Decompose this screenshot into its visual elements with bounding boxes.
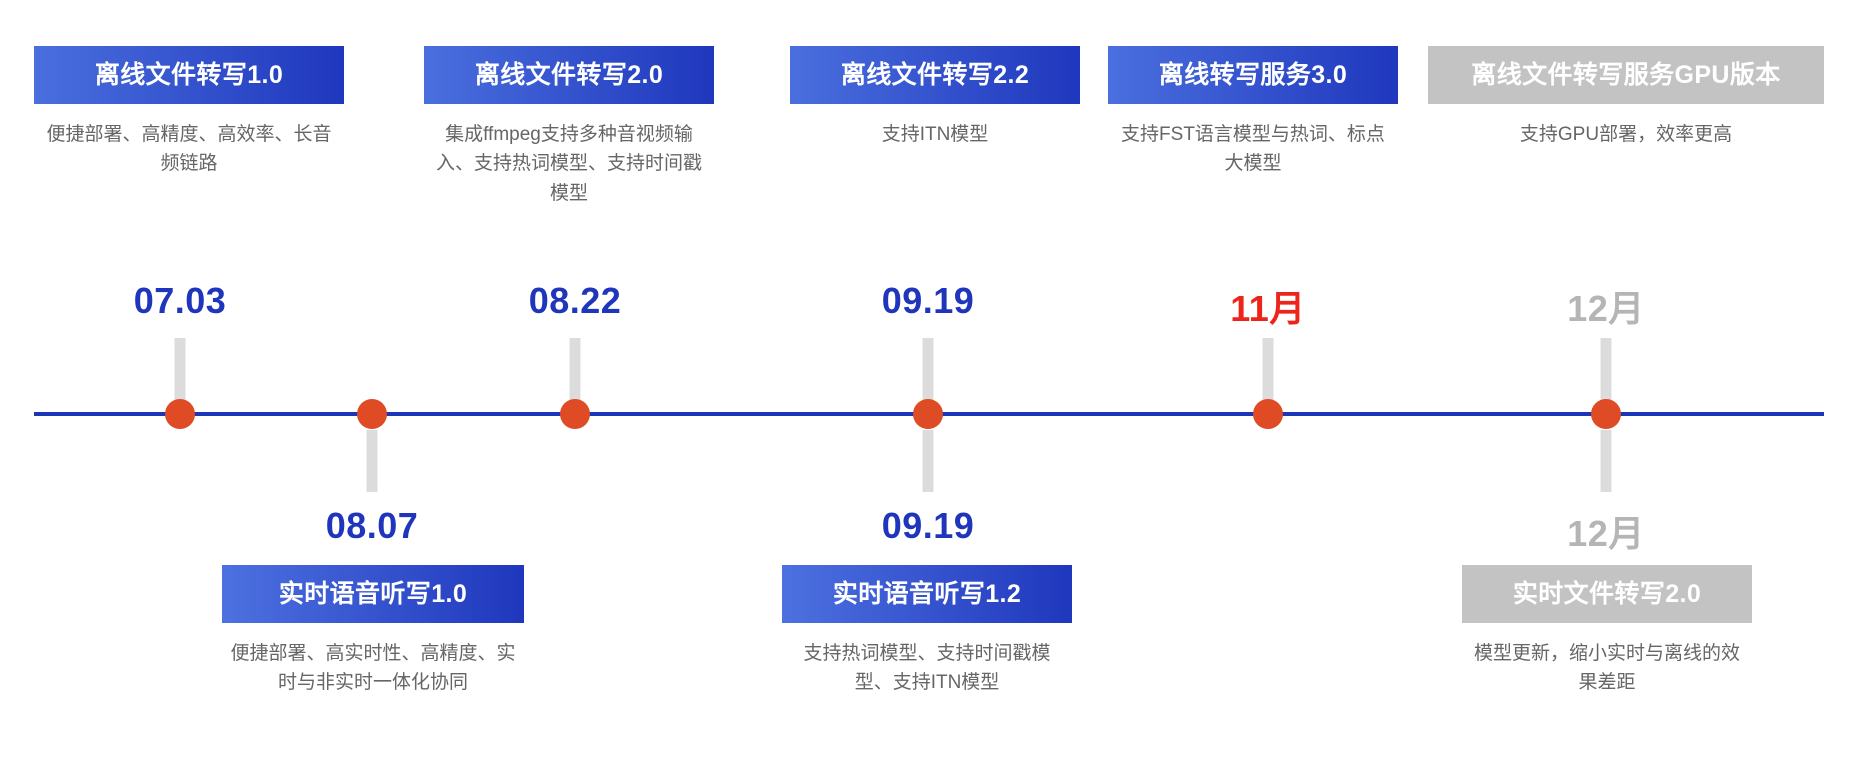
connector-stem-down-2 bbox=[367, 430, 378, 492]
timeline-node-0703[interactable] bbox=[165, 399, 195, 429]
timeline-card-offline-2-2[interactable]: 离线文件转写2.2 支持ITN模型 bbox=[790, 46, 1080, 149]
timeline-node-0919[interactable] bbox=[913, 399, 943, 429]
card-title: 实时语音听写1.2 bbox=[782, 565, 1072, 623]
date-label-december-top: 12月 bbox=[1567, 280, 1645, 332]
timeline-card-realtime-1-2[interactable]: 实时语音听写1.2 支持热词模型、支持时间戳模型、支持ITN模型 bbox=[782, 565, 1072, 698]
timeline-card-offline-service-3-0[interactable]: 离线转写服务3.0 支持FST语言模型与热词、标点大模型 bbox=[1108, 46, 1398, 179]
card-description: 便捷部署、高精度、高效率、长音频链路 bbox=[34, 120, 344, 179]
date-label-0703: 07.03 bbox=[134, 280, 227, 322]
connector-stem-up-6 bbox=[1601, 338, 1612, 400]
card-description: 支持ITN模型 bbox=[790, 120, 1080, 149]
card-description: 支持FST语言模型与热词、标点大模型 bbox=[1108, 120, 1398, 179]
date-label-0919-bottom: 09.19 bbox=[882, 505, 975, 547]
timeline-node-november[interactable] bbox=[1253, 399, 1283, 429]
card-title: 实时语音听写1.0 bbox=[222, 565, 524, 623]
timeline-card-offline-gpu[interactable]: 离线文件转写服务GPU版本 支持GPU部署，效率更高 bbox=[1428, 46, 1824, 149]
card-title: 离线文件转写1.0 bbox=[34, 46, 344, 104]
date-label-0807: 08.07 bbox=[326, 505, 419, 547]
card-title: 离线转写服务3.0 bbox=[1108, 46, 1398, 104]
connector-stem-up-5 bbox=[1263, 338, 1274, 400]
connector-stem-down-4 bbox=[923, 430, 934, 492]
card-title: 离线文件转写2.2 bbox=[790, 46, 1080, 104]
timeline-node-0822[interactable] bbox=[560, 399, 590, 429]
timeline-diagram: 离线文件转写1.0 便捷部署、高精度、高效率、长音频链路 离线文件转写2.0 集… bbox=[0, 0, 1856, 770]
date-label-december-bottom: 12月 bbox=[1567, 505, 1645, 557]
card-description: 集成ffmpeg支持多种音视频输入、支持热词模型、支持时间戳模型 bbox=[424, 120, 714, 208]
card-description: 支持GPU部署，效率更高 bbox=[1428, 120, 1824, 149]
date-label-0919-top: 09.19 bbox=[882, 280, 975, 322]
card-description: 模型更新，缩小实时与离线的效果差距 bbox=[1462, 639, 1752, 698]
timeline-card-offline-2-0[interactable]: 离线文件转写2.0 集成ffmpeg支持多种音视频输入、支持热词模型、支持时间戳… bbox=[424, 46, 714, 208]
connector-stem-up-3 bbox=[570, 338, 581, 400]
date-label-november: 11月 bbox=[1230, 280, 1306, 332]
timeline-node-0807[interactable] bbox=[357, 399, 387, 429]
connector-stem-up-1 bbox=[175, 338, 186, 400]
card-title: 离线文件转写服务GPU版本 bbox=[1428, 46, 1824, 104]
connector-stem-up-4 bbox=[923, 338, 934, 400]
card-title: 离线文件转写2.0 bbox=[424, 46, 714, 104]
card-description: 便捷部署、高实时性、高精度、实时与非实时一体化协同 bbox=[222, 639, 524, 698]
card-description: 支持热词模型、支持时间戳模型、支持ITN模型 bbox=[782, 639, 1072, 698]
timeline-node-december[interactable] bbox=[1591, 399, 1621, 429]
timeline-card-realtime-1-0[interactable]: 实时语音听写1.0 便捷部署、高实时性、高精度、实时与非实时一体化协同 bbox=[222, 565, 524, 698]
timeline-card-realtime-file-2-0[interactable]: 实时文件转写2.0 模型更新，缩小实时与离线的效果差距 bbox=[1462, 565, 1752, 698]
timeline-card-offline-1-0[interactable]: 离线文件转写1.0 便捷部署、高精度、高效率、长音频链路 bbox=[34, 46, 344, 179]
card-title: 实时文件转写2.0 bbox=[1462, 565, 1752, 623]
connector-stem-down-6 bbox=[1601, 430, 1612, 492]
date-label-0822: 08.22 bbox=[529, 280, 622, 322]
